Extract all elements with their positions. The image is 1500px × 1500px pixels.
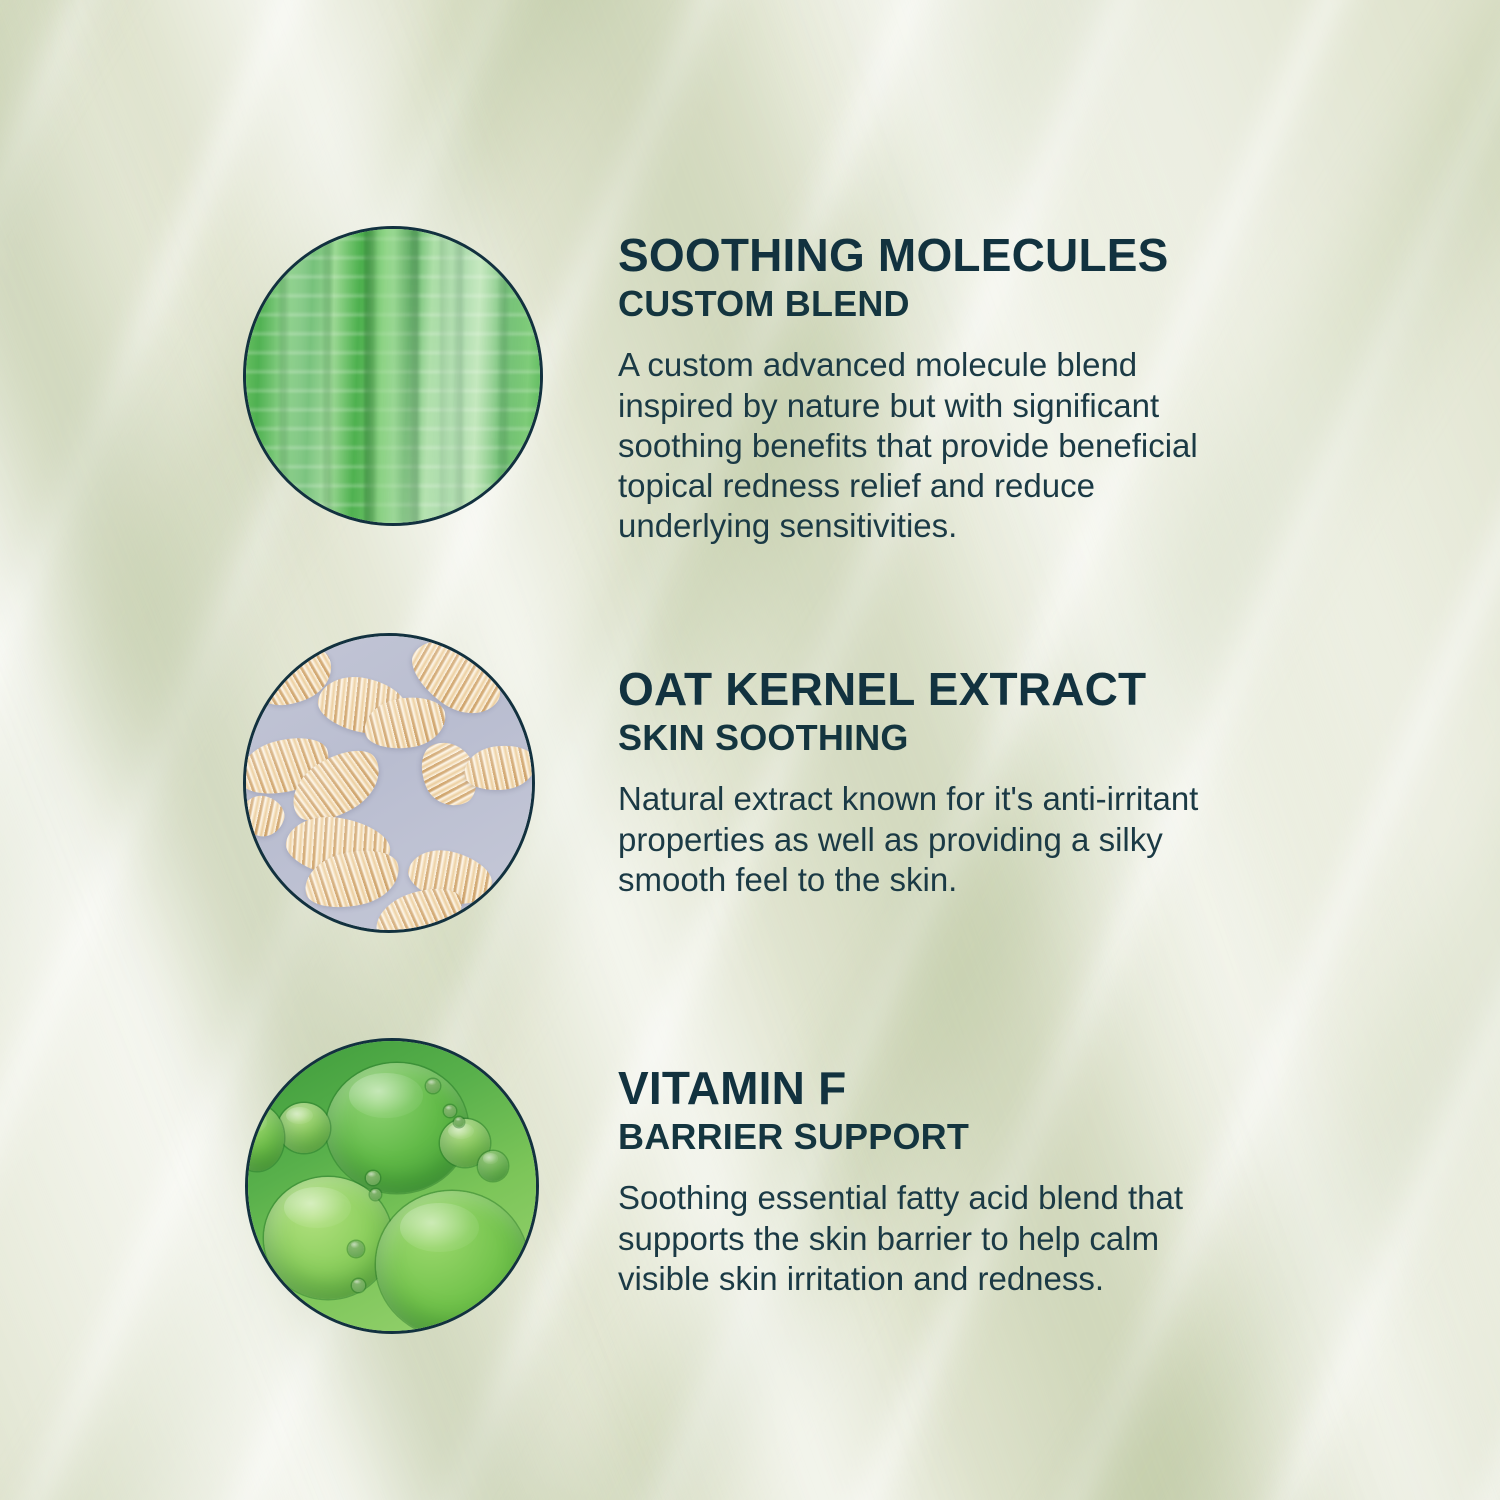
oat-kernel-extract-text-block: OAT KERNEL EXTRACT SKIN SOOTHING Natural… (618, 665, 1218, 900)
oil-bubble (478, 1151, 508, 1181)
oat-kernel-extract-body: Natural extract known for it's anti-irri… (618, 779, 1208, 900)
oat-flakes-photo (246, 636, 532, 930)
oil-bubble (426, 1079, 440, 1093)
oil-bubble (454, 1117, 464, 1127)
oil-bubble (348, 1241, 364, 1257)
leaf-highlight-main (372, 229, 540, 523)
oil-bubble (366, 1171, 380, 1185)
soothing-molecules-text-block: SOOTHING MOLECULES CUSTOM BLEND A custom… (618, 231, 1218, 547)
oil-bubble (352, 1279, 365, 1292)
oil-bubble (444, 1105, 456, 1117)
vitamin-f-subheading: BARRIER SUPPORT (618, 1117, 1218, 1157)
oat-kernel-extract-subheading: SKIN SOOTHING (618, 718, 1218, 758)
oil-bubble (370, 1189, 381, 1200)
leaf-highlight-edge (258, 229, 348, 523)
vitamin-f-body: Soothing essential fatty acid blend that… (618, 1178, 1208, 1299)
vitamin-f-heading: VITAMIN F (618, 1064, 1218, 1113)
green-plant-cell-microscopy-photo (246, 229, 540, 523)
vitamin-f-text-block: VITAMIN F BARRIER SUPPORT Soothing essen… (618, 1064, 1218, 1299)
oat-kernel-extract-heading: OAT KERNEL EXTRACT (618, 665, 1218, 714)
soothing-molecules-thumbnail (243, 226, 543, 526)
soothing-molecules-subheading: CUSTOM BLEND (618, 284, 1218, 324)
green-oil-bubbles-photo (248, 1041, 536, 1331)
ingredient-list: SOOTHING MOLECULES CUSTOM BLEND A custom… (0, 0, 1500, 1500)
oil-bubble (278, 1103, 330, 1153)
oil-bubble (376, 1191, 528, 1331)
ingredient-infographic: SOOTHING MOLECULES CUSTOM BLEND A custom… (0, 0, 1500, 1500)
oat-kernel-extract-thumbnail (243, 633, 535, 933)
soothing-molecules-heading: SOOTHING MOLECULES (618, 231, 1218, 280)
soothing-molecules-body: A custom advanced molecule blend inspire… (618, 345, 1208, 546)
vitamin-f-thumbnail (245, 1038, 539, 1334)
